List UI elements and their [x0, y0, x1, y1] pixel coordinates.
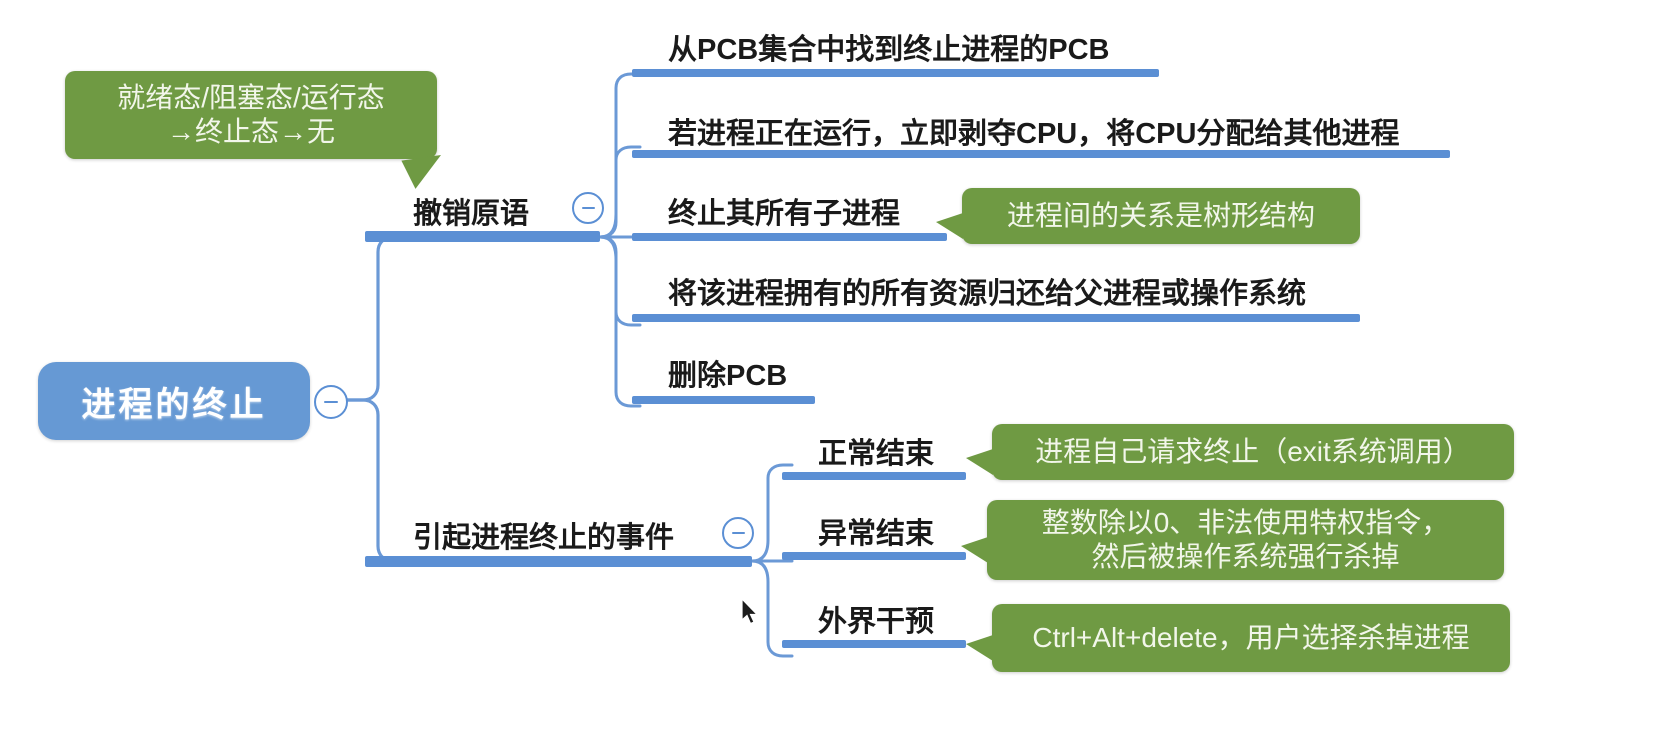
- minus-icon: [324, 401, 338, 404]
- topic-delete-pcb[interactable]: 删除PCB: [668, 352, 787, 394]
- topic-underline-find-pcb: [632, 69, 1159, 77]
- branch-underline-termination-events: [365, 556, 752, 567]
- annotation-state-transition[interactable]: 就绪态/阻塞态/运行态 →终止态→无: [65, 71, 437, 159]
- annotation-line-1: 进程间的关系是树形结构: [976, 199, 1346, 233]
- topic-abnormal-end[interactable]: 异常结束: [818, 510, 934, 552]
- annotation-line-2: →终止态→无: [79, 115, 423, 149]
- topic-external-intervention[interactable]: 外界干预: [818, 598, 934, 640]
- branch-collapse-revoke-primitive[interactable]: [572, 192, 604, 224]
- annotation-line-1: 进程自己请求终止（exit系统调用）: [1006, 435, 1500, 469]
- mindmap-canvas: 进程的终止 撤销原语 从PCB集合中找到终止进程的PCB 若进程正在运行，立即剥…: [0, 0, 1676, 750]
- annotation-abnormal-exit[interactable]: 整数除以0、非法使用特权指令， 然后被操作系统强行杀掉: [987, 500, 1504, 580]
- topic-terminate-children[interactable]: 终止其所有子进程: [668, 190, 900, 232]
- callout-tail: [966, 449, 993, 475]
- mouse-pointer-icon: [740, 598, 762, 628]
- root-collapse-button[interactable]: [314, 385, 348, 419]
- topic-underline-preempt-cpu: [632, 150, 1450, 158]
- annotation-external-intervention[interactable]: Ctrl+Alt+delete，用户选择杀掉进程: [992, 604, 1510, 672]
- branch-label-termination-events[interactable]: 引起进程终止的事件: [413, 514, 674, 556]
- branch-label-revoke-primitive[interactable]: 撤销原语: [413, 190, 529, 232]
- minus-icon: [732, 532, 745, 535]
- minus-icon: [582, 207, 595, 210]
- topic-underline-delete-pcb: [632, 396, 815, 404]
- topic-preempt-cpu[interactable]: 若进程正在运行，立即剥夺CPU，将CPU分配给其他进程: [668, 110, 1399, 152]
- branch-underline-revoke-primitive: [365, 231, 600, 242]
- topic-underline-abnormal-end: [782, 552, 966, 560]
- annotation-line-1: Ctrl+Alt+delete，用户选择杀掉进程: [1006, 621, 1496, 655]
- branch-collapse-termination-events[interactable]: [722, 517, 754, 549]
- topic-underline-external-intervention: [782, 640, 966, 648]
- annotation-line-2: 然后被操作系统强行杀掉: [1001, 540, 1490, 574]
- root-node[interactable]: 进程的终止: [38, 362, 310, 440]
- topic-return-resources[interactable]: 将该进程拥有的所有资源归还给父进程或操作系统: [668, 270, 1306, 312]
- annotation-line-1: 整数除以0、非法使用特权指令，: [1001, 506, 1490, 540]
- annotation-normal-exit[interactable]: 进程自己请求终止（exit系统调用）: [992, 424, 1514, 480]
- callout-tail: [961, 537, 988, 563]
- annotation-line-1: 就绪态/阻塞态/运行态: [79, 81, 423, 115]
- callout-tail: [401, 155, 445, 190]
- callout-tail: [966, 635, 993, 661]
- topic-normal-end[interactable]: 正常结束: [818, 430, 934, 472]
- topic-underline-return-resources: [632, 314, 1360, 322]
- topic-underline-normal-end: [782, 472, 966, 480]
- topic-find-pcb[interactable]: 从PCB集合中找到终止进程的PCB: [668, 26, 1109, 68]
- callout-tail: [936, 213, 963, 239]
- topic-underline-terminate-children: [632, 233, 947, 241]
- annotation-process-tree[interactable]: 进程间的关系是树形结构: [962, 188, 1360, 244]
- root-node-label: 进程的终止: [82, 377, 267, 426]
